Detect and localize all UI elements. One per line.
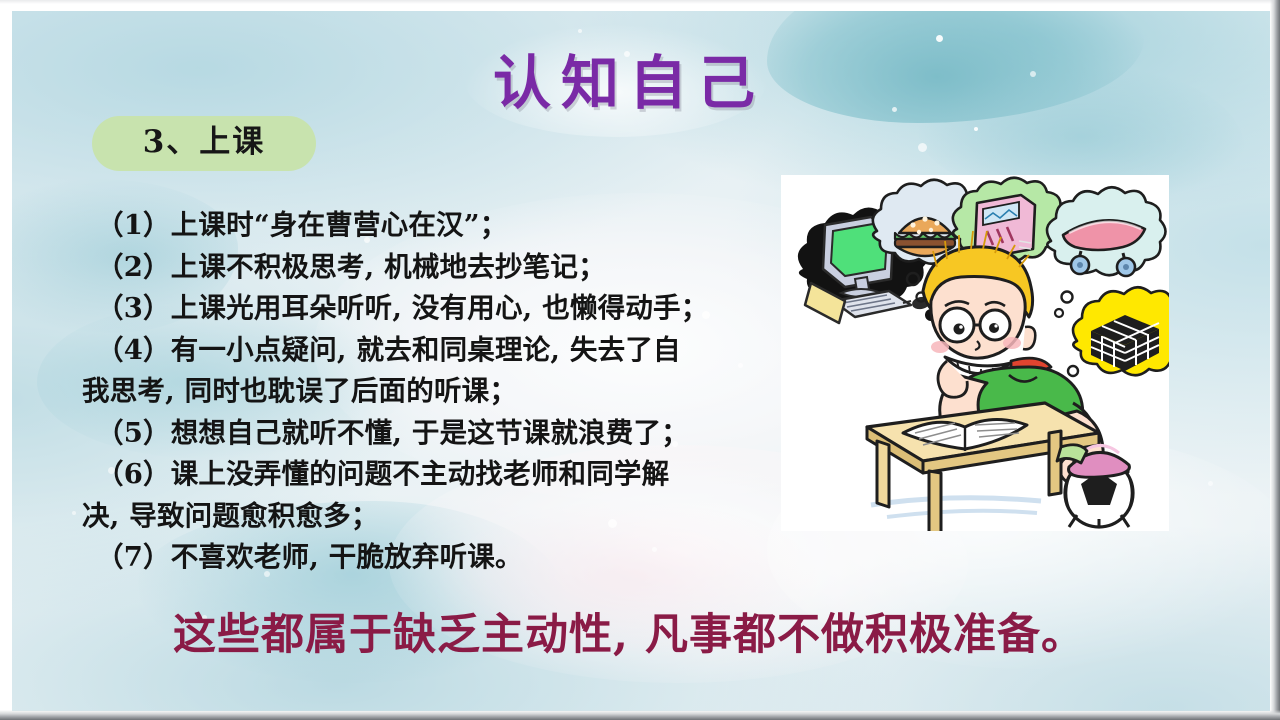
bokeh-speck (1208, 481, 1213, 486)
list-item-continuation: 决, 导致问题愈积愈多； (82, 496, 782, 538)
bokeh-speck (72, 511, 76, 515)
slide-edge-top (0, 0, 1280, 4)
list-item: （7）不喜欢老师, 干脆放弃听课。 (82, 537, 782, 579)
list-item: （6）课上没弄懂的问题不主动找老师和同学解 (82, 454, 782, 496)
bokeh-speck (974, 127, 978, 131)
section-badge: 3、上课 (92, 116, 316, 171)
list-item: （3）上课光用耳朵听听, 没有用心, 也懒得动手； (82, 288, 782, 330)
list-item: （5）想想自己就听不懂, 于是这节课就浪费了； (82, 413, 782, 455)
body-text-list: （1）上课时“身在曹营心在汉”； （2）上课不积极思考, 机械地去抄笔记； （3… (82, 205, 782, 579)
slide-edge-bottom (0, 710, 1280, 720)
list-item-continuation: 我思考, 同时也耽误了后面的听课； (82, 371, 782, 413)
page-title: 认知自己 (0, 36, 1258, 120)
illustration-image (781, 175, 1169, 531)
daydreaming-student-illustration (781, 175, 1169, 531)
list-item: （2）上课不积极思考, 机械地去抄笔记； (82, 247, 782, 289)
section-badge-label: 3、上课 (143, 127, 266, 161)
slide-edge-right (1270, 0, 1280, 720)
bokeh-speck (918, 143, 927, 152)
conclusion-text: 这些都属于缺乏主动性, 凡事都不做积极准备。 (0, 600, 1258, 662)
list-item: （1）上课时“身在曹营心在汉”； (82, 205, 782, 247)
list-item: （4）有一小点疑问, 就去和同桌理论, 失去了自 (82, 330, 782, 372)
bokeh-speck (578, 29, 582, 33)
slide: 认知自己 3、上课 （1）上课时“身在曹营心在汉”； （2）上课不积极思考, 机… (0, 0, 1280, 720)
